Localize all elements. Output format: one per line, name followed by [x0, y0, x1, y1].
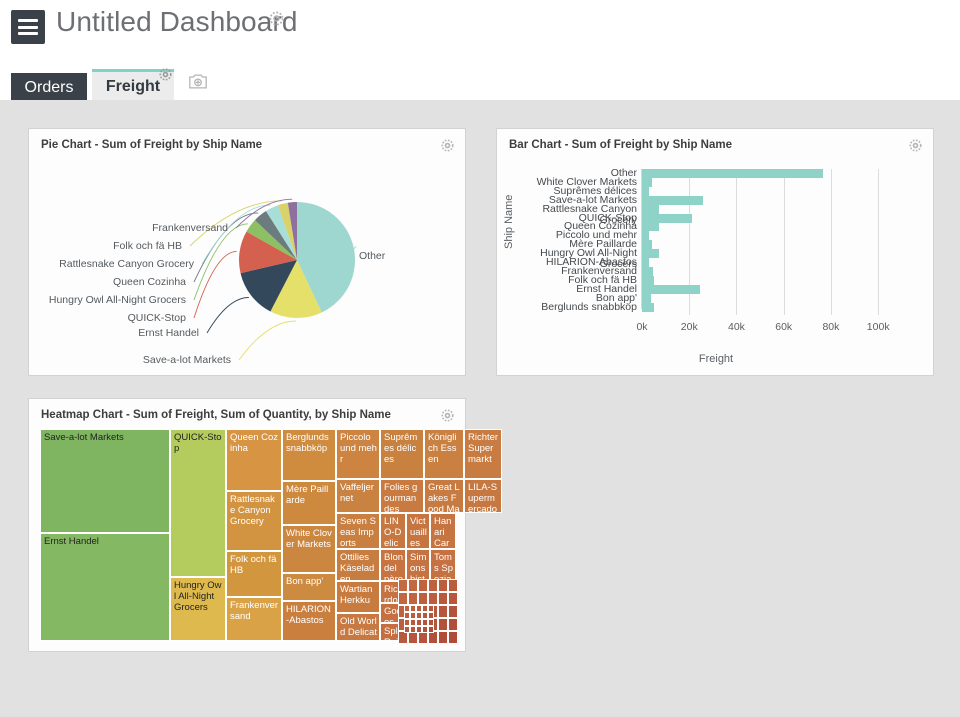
- treemap-tile[interactable]: QUICK-Stop: [170, 429, 226, 577]
- bar-row[interactable]: HILARION-Abastos: [642, 258, 890, 267]
- treemap-tile-micro[interactable]: [410, 619, 416, 626]
- treemap-tile-micro[interactable]: [448, 631, 458, 644]
- treemap-tile-micro[interactable]: [438, 579, 448, 592]
- treemap-tile[interactable]: Wartian Herkku: [336, 581, 380, 613]
- treemap-tile[interactable]: Berglunds snabbköp: [282, 429, 336, 481]
- bar-chart-area: Ship Name OtherWhite Clover MarketsSuprê…: [497, 155, 935, 377]
- treemap-tile-micro[interactable]: [428, 612, 434, 619]
- treemap-tile[interactable]: Great Lakes Food Market: [424, 479, 464, 513]
- treemap-tile-micro[interactable]: [428, 626, 434, 633]
- treemap-tile-micro[interactable]: [438, 605, 448, 618]
- bar-fill: [642, 187, 649, 196]
- treemap-tile[interactable]: HILARION-Abastos: [282, 601, 336, 641]
- bar-x-tick-label: 100k: [867, 321, 890, 333]
- treemap-tile-micro[interactable]: [408, 579, 418, 592]
- bar-fill: [642, 231, 649, 240]
- treemap-tile-micro[interactable]: [422, 619, 428, 626]
- treemap-tile[interactable]: Ernst Handel: [40, 533, 170, 641]
- bar-row[interactable]: Ernst Handel: [642, 285, 890, 294]
- treemap-tile-micro[interactable]: [438, 631, 448, 644]
- panel-heatmap-chart: Heatmap Chart - Sum of Freight, Sum of Q…: [28, 398, 466, 652]
- bar-fill: [642, 249, 659, 258]
- hamburger-bar: [18, 26, 38, 29]
- treemap-tile-micro[interactable]: [448, 618, 458, 631]
- panel-bar-gear-icon[interactable]: [908, 138, 923, 153]
- app-header: Untitled Dashboard: [0, 0, 960, 62]
- bar-row[interactable]: Folk och fä HB: [642, 276, 890, 285]
- bar-x-tick-label: 20k: [681, 321, 698, 333]
- treemap-tile-micro[interactable]: [408, 631, 418, 644]
- pie-chart-area: OtherSave-a-lot MarketsErnst HandelQUICK…: [29, 155, 467, 375]
- tab-freight-label: Freight: [106, 78, 160, 96]
- treemap-tile[interactable]: Folies gourmandes: [380, 479, 424, 513]
- treemap-tile[interactable]: Queen Cozinha: [226, 429, 282, 491]
- bar-fill: [642, 214, 692, 223]
- treemap-tile[interactable]: Folk och fä HB: [226, 551, 282, 597]
- tab-orders[interactable]: Orders: [11, 73, 87, 102]
- treemap-tile[interactable]: Save-a-lot Markets: [40, 429, 170, 533]
- panel-heatmap-title: Heatmap Chart - Sum of Freight, Sum of Q…: [41, 409, 391, 421]
- bar-fill: [642, 294, 651, 303]
- treemap-area[interactable]: Save-a-lot MarketsErnst HandelQUICK-Stop…: [40, 429, 456, 641]
- dashboard-canvas: Pie Chart - Sum of Freight by Ship Name …: [0, 100, 960, 717]
- treemap-tile-micro[interactable]: [448, 592, 458, 605]
- treemap-tile-micro[interactable]: [422, 605, 428, 612]
- treemap-tile[interactable]: Mère Paillarde: [282, 481, 336, 525]
- treemap-tile[interactable]: Piccolo und mehr: [336, 429, 380, 479]
- treemap-tile[interactable]: Richter Supermarkt: [464, 429, 502, 479]
- treemap-tile-micro[interactable]: [428, 579, 438, 592]
- bar-fill: [642, 285, 700, 294]
- pie-slice-label: Save-a-lot Markets: [143, 354, 231, 366]
- bar-row[interactable]: Piccolo und mehr: [642, 231, 890, 240]
- treemap-tile-micro[interactable]: [404, 605, 410, 612]
- treemap-tile-micro[interactable]: [418, 592, 428, 605]
- bar-row[interactable]: Mère Paillarde: [642, 240, 890, 249]
- treemap-tile-micro[interactable]: [422, 612, 428, 619]
- treemap-tile-micro[interactable]: [410, 626, 416, 633]
- treemap-tile-micro[interactable]: [410, 605, 416, 612]
- bar-row[interactable]: Berglunds snabbköp: [642, 303, 890, 312]
- bar-row[interactable]: QUICK-Stop: [642, 214, 890, 223]
- hamburger-bar: [18, 19, 38, 22]
- bar-fill: [642, 276, 654, 285]
- treemap-tile[interactable]: Frankenversand: [226, 597, 282, 641]
- pie-slice-label: Folk och fä HB: [113, 240, 182, 252]
- treemap-tile-micro[interactable]: [428, 605, 434, 612]
- pie-slice-label: Frankenversand: [152, 222, 228, 234]
- treemap-tile-micro[interactable]: [438, 618, 448, 631]
- treemap-tile-micro[interactable]: [398, 631, 408, 644]
- bar-y-axis-label: Ship Name: [503, 195, 515, 249]
- pie-slice-label: Hungry Owl All-Night Grocers: [49, 294, 186, 306]
- bar-row[interactable]: Hungry Owl All-Night Grocers: [642, 249, 890, 258]
- bar-plot-area[interactable]: OtherWhite Clover MarketsSuprêmes délice…: [641, 169, 889, 309]
- treemap-tile-micro[interactable]: [418, 579, 428, 592]
- treemap-tile-micro[interactable]: [398, 592, 408, 605]
- bar-fill: [642, 303, 654, 312]
- treemap-tile[interactable]: LILA-Supermercado: [464, 479, 502, 513]
- panel-pie-gear-icon[interactable]: [440, 138, 455, 153]
- bar-row[interactable]: White Clover Markets: [642, 178, 890, 187]
- bar-row[interactable]: Suprêmes délices: [642, 187, 890, 196]
- treemap-tile-micro[interactable]: [428, 592, 438, 605]
- treemap-tile[interactable]: Old World Delicatessen: [336, 613, 380, 641]
- treemap-tile[interactable]: Ottilies Käseladen: [336, 549, 380, 581]
- treemap-tile[interactable]: Victuailles en stock: [406, 513, 430, 549]
- tab-settings-gear-icon[interactable]: [158, 67, 173, 82]
- dashboard-settings-gear-icon[interactable]: [268, 10, 285, 27]
- treemap-tile[interactable]: Rattlesnake Canyon Grocery: [226, 491, 282, 551]
- treemap-tile[interactable]: Suprêmes délices: [380, 429, 424, 479]
- page-title: Untitled Dashboard: [56, 6, 298, 38]
- treemap-tile-micro[interactable]: [438, 592, 448, 605]
- bar-category-label: Berglunds snabbköp: [541, 302, 637, 313]
- bar-row[interactable]: Queen Cozinha: [642, 222, 890, 231]
- treemap-tile[interactable]: Hungry Owl All-Night Grocers: [170, 577, 226, 641]
- bar-row[interactable]: Save-a-lot Markets: [642, 196, 890, 205]
- bar-fill: [642, 267, 653, 276]
- pie-leader-line: [194, 251, 237, 318]
- panel-pie-title: Pie Chart - Sum of Freight by Ship Name: [41, 139, 262, 151]
- treemap-tile-micro[interactable]: [410, 612, 416, 619]
- treemap-tile[interactable]: Königlich Essen: [424, 429, 464, 479]
- treemap-tile-micro[interactable]: [416, 626, 422, 633]
- treemap-tile-micro[interactable]: [404, 619, 410, 626]
- panel-bar-title: Bar Chart - Sum of Freight by Ship Name: [509, 139, 732, 151]
- treemap-tile[interactable]: Hanari Carnes: [430, 513, 456, 549]
- treemap-tile-micro[interactable]: [408, 592, 418, 605]
- treemap-tile-micro[interactable]: [398, 579, 408, 592]
- pie-slice-label: Ernst Handel: [138, 327, 199, 339]
- panel-heatmap-gear-icon[interactable]: [440, 408, 455, 423]
- pie-slice-label: Rattlesnake Canyon Grocery: [59, 258, 194, 270]
- bar-x-tick-label: 0k: [636, 321, 647, 333]
- treemap-tile-micro[interactable]: [428, 619, 434, 626]
- treemap-tile[interactable]: Seven Seas Imports: [336, 513, 380, 549]
- bar-row[interactable]: Bon app': [642, 294, 890, 303]
- bar-x-axis-label: Freight: [497, 353, 935, 365]
- treemap-tile[interactable]: White Clover Markets: [282, 525, 336, 573]
- treemap-tile-micro[interactable]: [416, 619, 422, 626]
- treemap-tile-micro[interactable]: [422, 626, 428, 633]
- treemap-tile-micro[interactable]: [448, 605, 458, 618]
- tab-orders-label: Orders: [25, 79, 74, 97]
- bar-row[interactable]: Rattlesnake Canyon Grocery: [642, 205, 890, 214]
- treemap-tile[interactable]: LINO-Delicateses: [380, 513, 406, 549]
- treemap-tile-micro[interactable]: [416, 605, 422, 612]
- treemap-tile[interactable]: Bon app': [282, 573, 336, 601]
- panel-pie-chart: Pie Chart - Sum of Freight by Ship Name …: [28, 128, 466, 376]
- hamburger-menu-icon[interactable]: [11, 10, 45, 44]
- treemap-tile[interactable]: Simons bistro: [406, 549, 430, 581]
- bar-fill: [642, 196, 703, 205]
- bar-fill: [642, 205, 659, 214]
- pie-slice-label: Queen Cozinha: [113, 276, 186, 288]
- bar-row[interactable]: Other: [642, 169, 890, 178]
- bar-fill: [642, 169, 823, 178]
- bar-x-tick-label: 80k: [822, 321, 839, 333]
- bar-fill: [642, 258, 649, 267]
- add-screenshot-icon[interactable]: [188, 73, 208, 90]
- bar-fill: [642, 240, 652, 249]
- pie-slice-label: Other: [359, 250, 385, 262]
- bar-x-tick-label: 60k: [775, 321, 792, 333]
- treemap-tile[interactable]: Vaffeljernet: [336, 479, 380, 513]
- pie-slice-label: QUICK-Stop: [128, 312, 186, 324]
- treemap-tile-micro[interactable]: [416, 612, 422, 619]
- treemap-tile-micro[interactable]: [418, 631, 428, 644]
- treemap-tile-micro[interactable]: [404, 626, 410, 633]
- treemap-tile[interactable]: Blondel père et fils: [380, 549, 406, 581]
- hamburger-bar: [18, 32, 38, 35]
- panel-bar-chart: Bar Chart - Sum of Freight by Ship Name …: [496, 128, 934, 376]
- bar-fill: [642, 222, 659, 231]
- treemap-tile-micro[interactable]: [428, 631, 438, 644]
- treemap-tile-micro[interactable]: [404, 612, 410, 619]
- pie-leader-line: [207, 297, 249, 333]
- tab-bar: Orders Freight: [0, 62, 960, 100]
- pie-leader-line: [239, 321, 296, 360]
- treemap-tile-micro[interactable]: [448, 579, 458, 592]
- bar-fill: [642, 178, 652, 187]
- bar-row[interactable]: Frankenversand: [642, 267, 890, 276]
- treemap-tile[interactable]: Toms Spezialitäten: [430, 549, 456, 581]
- bar-x-tick-label: 40k: [728, 321, 745, 333]
